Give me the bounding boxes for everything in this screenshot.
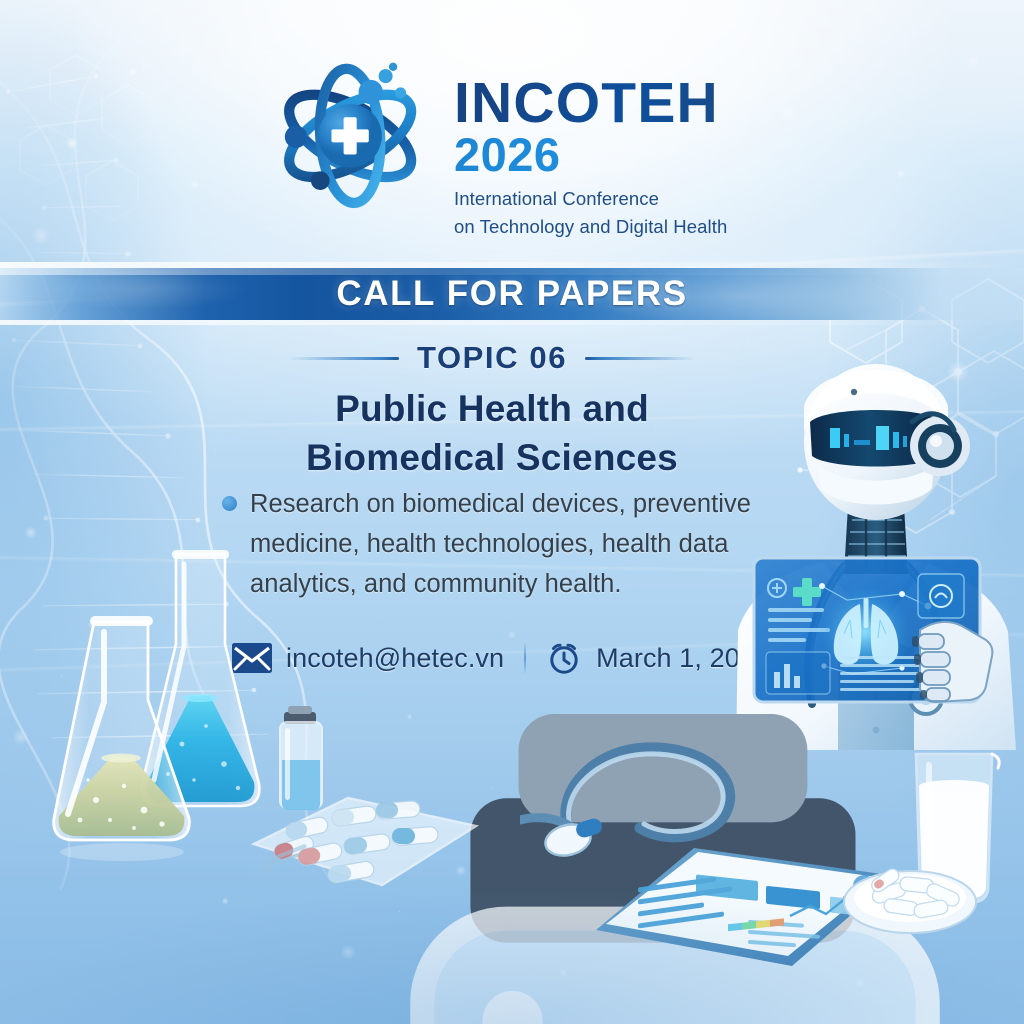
topic-title: Public Health and Biomedical Sciences [232,385,752,483]
topic-divider-right [585,357,695,360]
topic-divider-left [289,357,399,360]
robot-hand [900,600,1010,710]
contact-row: incoteh@hetec.vn March 1, 2026 [232,637,770,679]
capsule-blister-pack [232,780,482,895]
contact-separator [524,643,526,673]
topic-title-line2: Biomedical Sciences [232,434,752,483]
topic-description-text: Research on biomedical devices, preventi… [250,485,762,604]
logo-subtitle-line1: International Conference [454,185,727,213]
atom-medical-cross-logo [268,50,436,218]
alarm-clock-icon [546,640,582,676]
topic-title-line1: Public Health and [232,385,752,434]
erlenmeyer-flask-front [40,614,205,864]
topic-description: Research on biomedical devices, preventi… [222,485,762,604]
banner-label: CALL FOR PAPERS [336,274,687,314]
conference-logo: INCOTEH 2026 International Conference on… [268,48,738,240]
banner-bottom-highlight [0,320,1024,325]
capsule-dish [840,856,980,936]
topic-number-label: TOPIC 06 [417,340,567,376]
poster-canvas: INCOTEH 2026 International Conference on… [0,0,1024,1024]
contact-email[interactable]: incoteh@hetec.vn [286,643,504,674]
wordmark-incoteh: INCOTEH [454,76,727,130]
logo-subtitle-line2: on Technology and Digital Health [454,213,727,241]
logo-wordmark-group: INCOTEH 2026 International Conference on… [454,48,727,241]
wordmark-year: 2026 [454,131,727,179]
bullet-dot-icon [222,496,237,511]
topic-eyebrow-row: TOPIC 06 [252,338,732,378]
call-for-papers-banner: CALL FOR PAPERS [0,268,1024,320]
